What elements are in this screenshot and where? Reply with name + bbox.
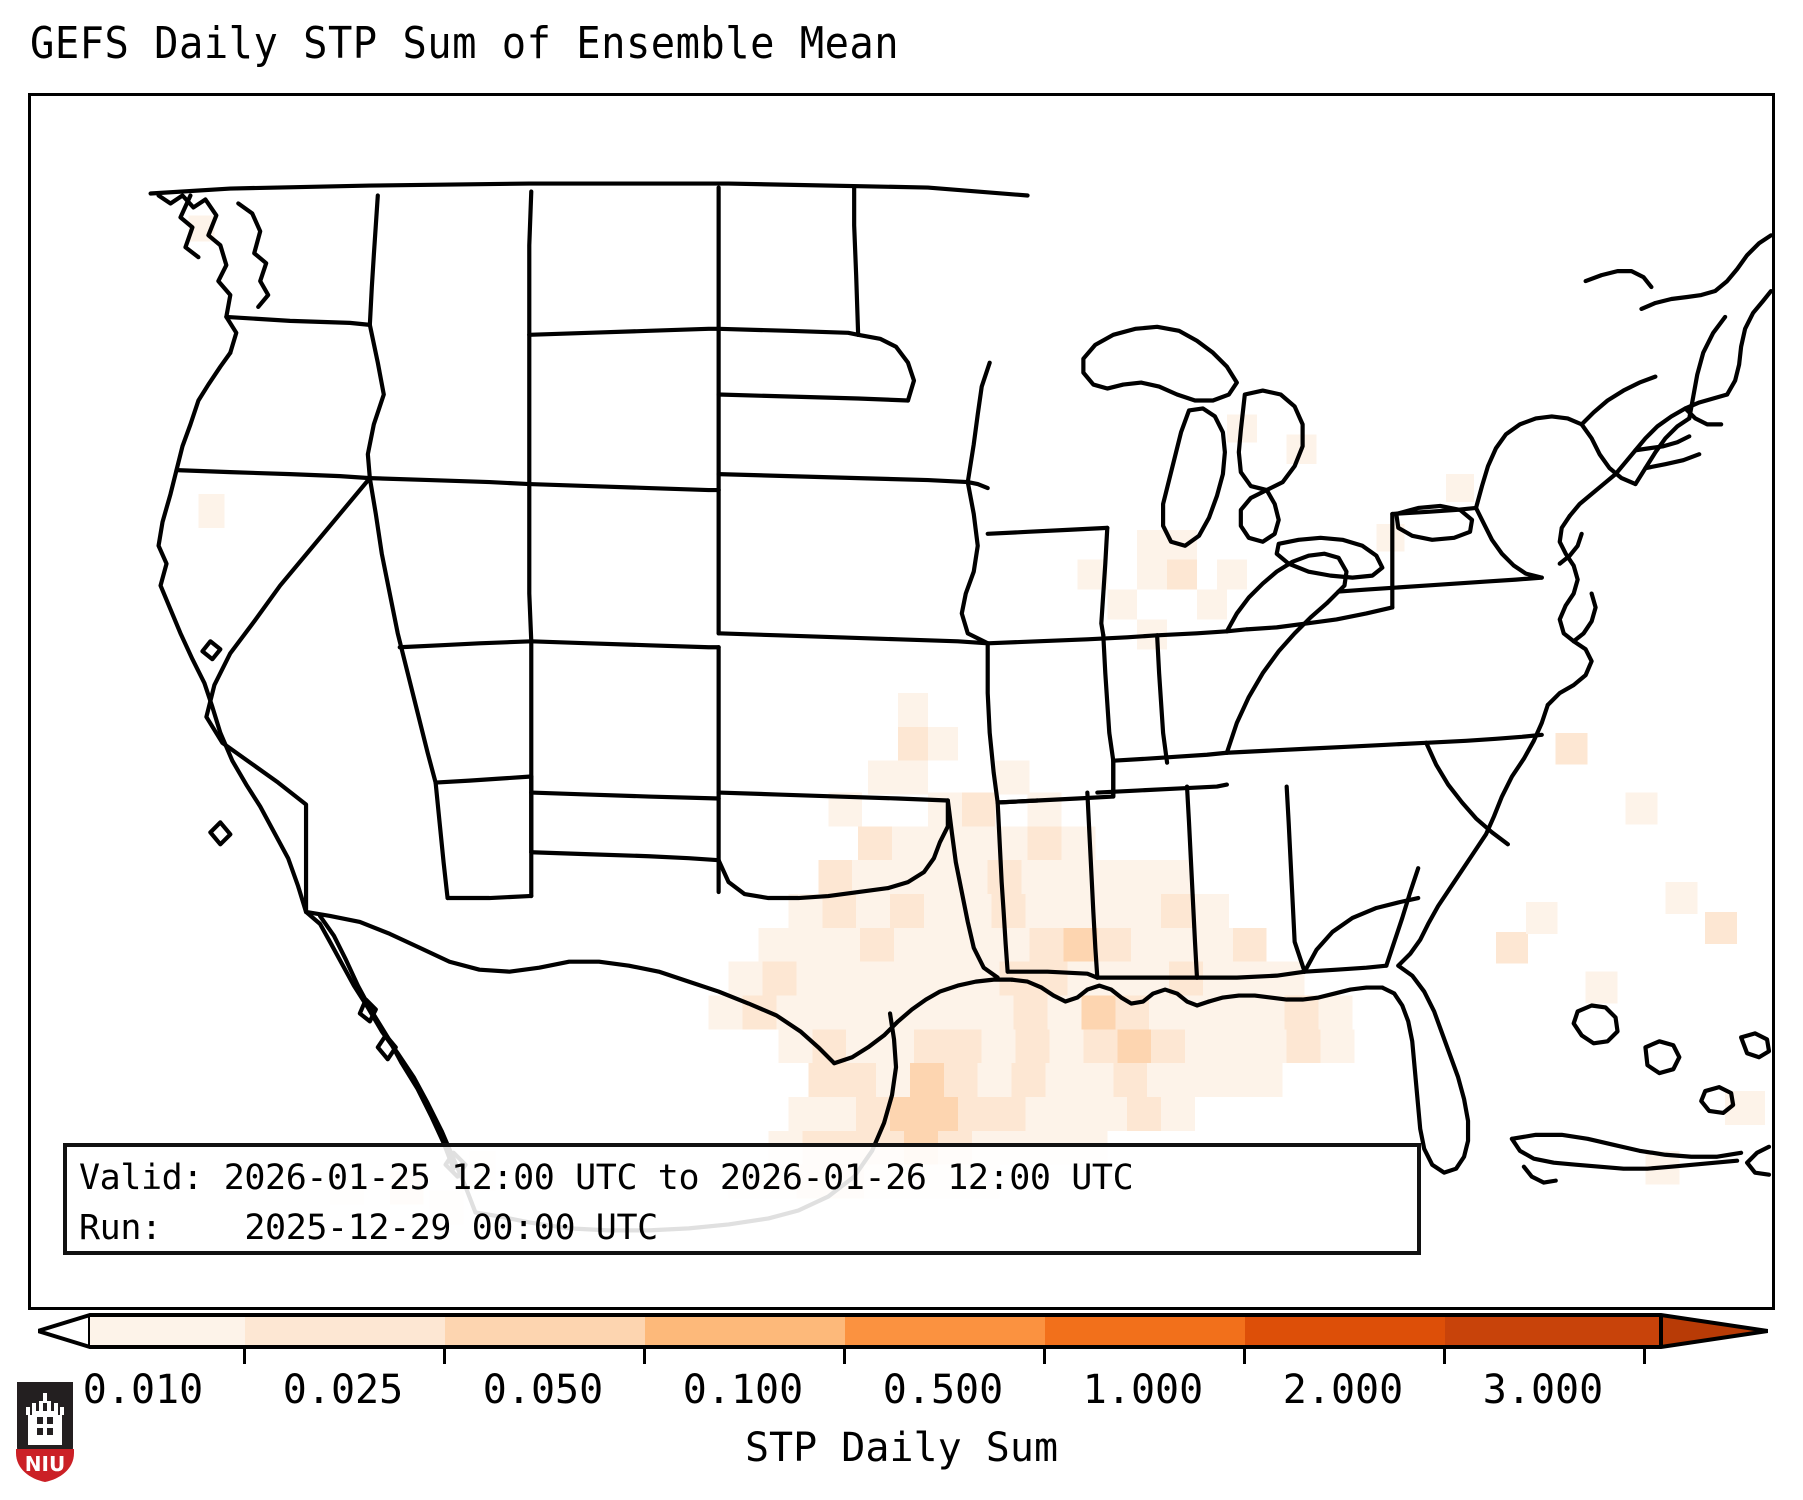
colorbar-tick-label: 3.000 xyxy=(1483,1367,1603,1413)
colorbar-under-arrow xyxy=(38,1315,90,1347)
colorbar-tick-label: 0.100 xyxy=(683,1367,803,1413)
colorbar-tick xyxy=(643,1349,646,1364)
colorbar-tick-labels: 0.010 0.025 0.050 0.100 0.500 1.000 2.00… xyxy=(0,1367,1803,1417)
colorbar-tick-label: 0.500 xyxy=(883,1367,1003,1413)
run-time-line: Run: 2025-12-29 00:00 UTC xyxy=(79,1203,1417,1253)
colorbar-tick xyxy=(443,1349,446,1364)
colorbar-tick xyxy=(843,1349,846,1364)
colorbar-tick xyxy=(1643,1349,1646,1364)
colorbar-tick-label: 0.010 xyxy=(83,1367,203,1413)
colorbar-bands xyxy=(90,1315,1661,1347)
colorbar-axis-label: STP Daily Sum xyxy=(0,1425,1803,1471)
niu-logo: NIU xyxy=(14,1379,76,1484)
figure-canvas: GEFS Daily STP Sum of Ensemble Mean xyxy=(0,0,1803,1500)
colorbar-tick xyxy=(243,1349,246,1364)
map-panel[interactable] xyxy=(28,93,1775,1310)
colorbar-tick xyxy=(1043,1349,1046,1364)
forecast-info-box: Valid: 2026-01-25 12:00 UTC to 2026-01-2… xyxy=(63,1143,1421,1255)
colorbar-tick-label: 2.000 xyxy=(1283,1367,1403,1413)
colorbar-tick-label: 0.050 xyxy=(483,1367,603,1413)
colorbar-tick xyxy=(1243,1349,1246,1364)
colorbar[interactable] xyxy=(38,1313,1768,1349)
niu-shield-icon: NIU xyxy=(14,1379,76,1484)
colorbar-gradient xyxy=(38,1313,1768,1349)
valid-time-line: Valid: 2026-01-25 12:00 UTC to 2026-01-2… xyxy=(79,1153,1417,1203)
colorbar-tick xyxy=(1443,1349,1446,1364)
colorbar-over-arrow xyxy=(1661,1315,1768,1347)
map-canvas xyxy=(31,96,1772,1307)
colorbar-tick-label: 0.025 xyxy=(283,1367,403,1413)
colorbar-tick-label: 1.000 xyxy=(1083,1367,1203,1413)
page-title: GEFS Daily STP Sum of Ensemble Mean xyxy=(30,18,899,69)
colorbar-tickmarks xyxy=(38,1349,1768,1365)
data-grid-cells xyxy=(188,215,1765,1224)
niu-logo-text: NIU xyxy=(25,1452,65,1476)
